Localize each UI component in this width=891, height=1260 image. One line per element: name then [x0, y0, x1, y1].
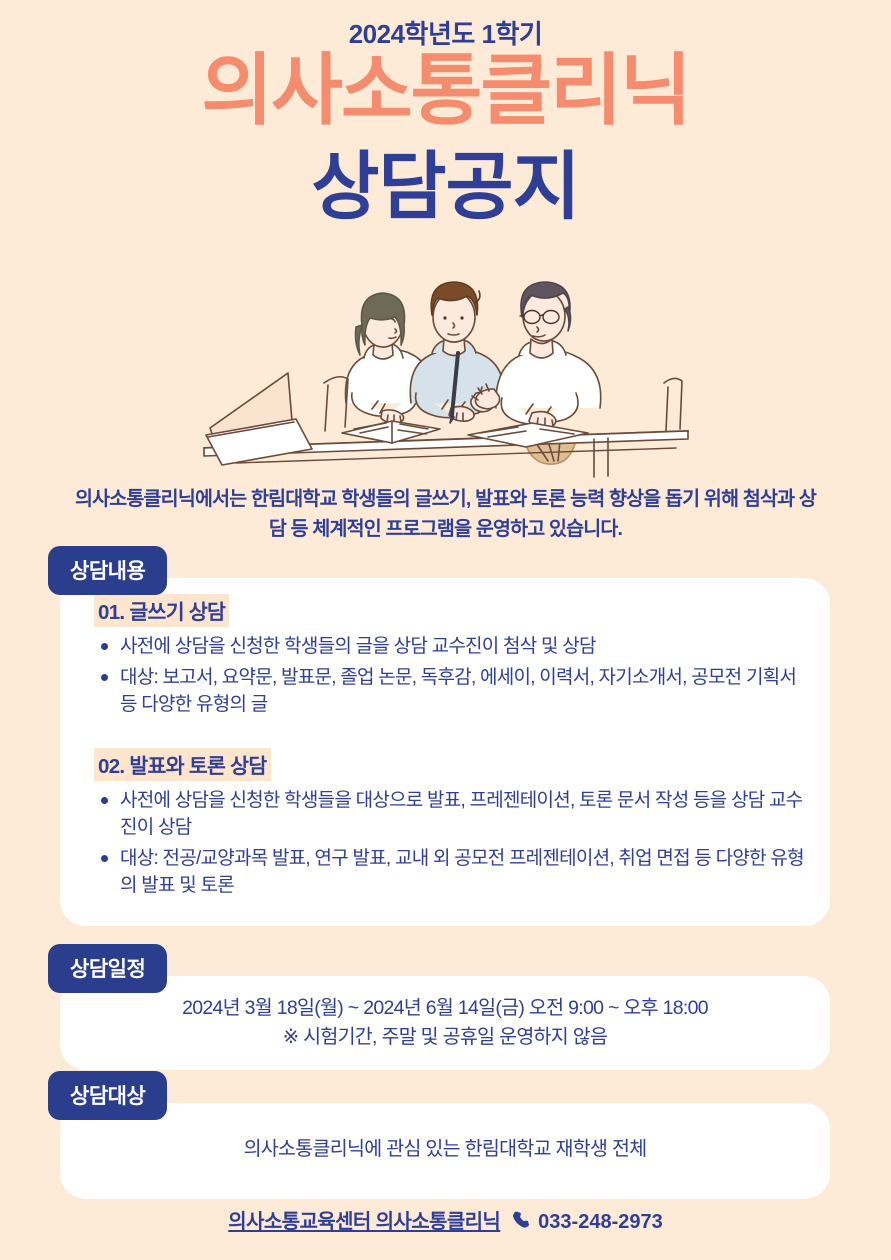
consultation-illustration: [196, 243, 696, 478]
poster-root: 2024학년도 1학기 의사소통클리닉 상담공지: [0, 0, 891, 1260]
footer-contact: 의사소통교육센터 의사소통클리닉 033-248-2973: [0, 1205, 891, 1236]
list-item: 대상: 보고서, 요약문, 발표문, 졸업 논문, 독후감, 에세이, 이력서,…: [94, 664, 804, 718]
phone-icon: [511, 1210, 531, 1236]
section-02-bullet-list: 사전에 상담을 신청한 학생들을 대상으로 발표, 프레젠테이션, 토론 문서 …: [94, 787, 804, 900]
section-writing-consultation: 01. 글쓰기 상담 사전에 상담을 신청한 학생들의 글을 상담 교수진이 첨…: [94, 594, 804, 722]
target-text-block: 의사소통클리닉에 관심 있는 한림대학교 재학생 전체: [60, 1135, 830, 1164]
schedule-text-block: 2024년 3월 18일(월) ~ 2024년 6월 14일(금) 오전 9:0…: [60, 994, 830, 1053]
card-consultation-target: 의사소통클리닉에 관심 있는 한림대학교 재학생 전체: [60, 1103, 830, 1199]
section-01-bullet-list: 사전에 상담을 신청한 학생들의 글을 상담 교수진이 첨삭 및 상담 대상: …: [94, 633, 804, 718]
badge-consultation-content: 상담내용: [48, 546, 167, 595]
list-item: 사전에 상담을 신청한 학생들을 대상으로 발표, 프레젠테이션, 토론 문서 …: [94, 787, 804, 841]
footer-phone-number: 033-248-2973: [538, 1211, 663, 1233]
section-02-heading: 02. 발표와 토론 상담: [94, 748, 271, 781]
schedule-line-2: ※ 시험기간, 주말 및 공휴일 운영하지 않음: [60, 1023, 830, 1052]
footer-organization: 의사소통교육센터 의사소통클리닉: [228, 1211, 500, 1233]
poster-title-sub: 상담공지: [0, 148, 891, 226]
section-presentation-consultation: 02. 발표와 토론 상담 사전에 상담을 신청한 학생들을 대상으로 발표, …: [94, 748, 804, 904]
target-line-1: 의사소통클리닉에 관심 있는 한림대학교 재학생 전체: [60, 1135, 830, 1164]
list-item: 사전에 상담을 신청한 학생들의 글을 상담 교수진이 첨삭 및 상담: [94, 633, 804, 660]
badge-consultation-target: 상담대상: [48, 1071, 167, 1120]
poster-title-main: 의사소통클리닉: [0, 50, 891, 132]
list-item: 대상: 전공/교양과목 발표, 연구 발표, 교내 외 공모전 프레젠테이션, …: [94, 845, 804, 899]
schedule-line-1: 2024년 3월 18일(월) ~ 2024년 6월 14일(금) 오전 9:0…: [60, 994, 830, 1023]
badge-consultation-schedule: 상담일정: [48, 944, 167, 993]
card-consultation-schedule: 2024년 3월 18일(월) ~ 2024년 6월 14일(금) 오전 9:0…: [60, 976, 830, 1070]
section-01-heading: 01. 글쓰기 상담: [94, 594, 229, 627]
card-consultation-content: 01. 글쓰기 상담 사전에 상담을 신청한 학생들의 글을 상담 교수진이 첨…: [60, 578, 830, 926]
intro-paragraph: 의사소통클리닉에서는 한림대학교 학생들의 글쓰기, 발표와 토론 능력 향상을…: [70, 484, 821, 544]
